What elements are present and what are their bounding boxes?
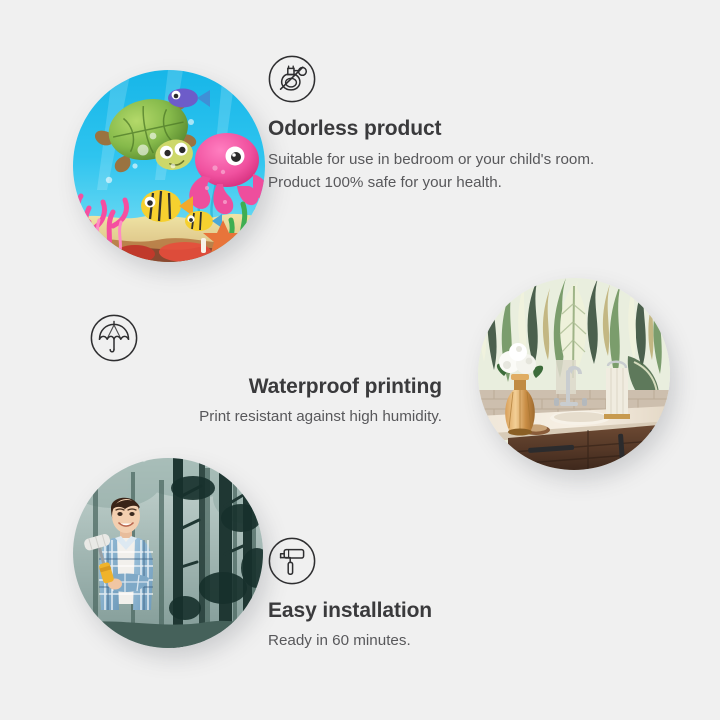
feature-title: Waterproof printing — [90, 374, 442, 400]
feature-installation: Easy installation Ready in 60 minutes. — [268, 537, 598, 653]
feature-highlights-panel: Odorless product Suitable for use in bed… — [0, 0, 720, 720]
feature-description: Print resistant against high humidity. — [90, 406, 442, 428]
feature-title: Easy installation — [268, 598, 598, 624]
photo-bathroom-tropical-wallpaper[interactable] — [478, 278, 670, 470]
feature-description: Suitable for use in bedroom or your chil… — [268, 149, 618, 194]
feature-odorless: Odorless product Suitable for use in bed… — [268, 55, 618, 194]
photo-cartoon-underwater-scene[interactable] — [73, 70, 265, 262]
feature-description: Ready in 60 minutes. — [268, 630, 598, 652]
feature-waterproof: Waterproof printing Print resistant agai… — [90, 314, 442, 429]
photo-woman-with-paint-roller-forest-mural[interactable] — [73, 458, 263, 648]
no-odor-perfume-bottle-icon — [268, 55, 618, 103]
paint-roller-icon — [268, 537, 598, 585]
umbrella-icon — [90, 314, 442, 362]
feature-title: Odorless product — [268, 116, 618, 142]
